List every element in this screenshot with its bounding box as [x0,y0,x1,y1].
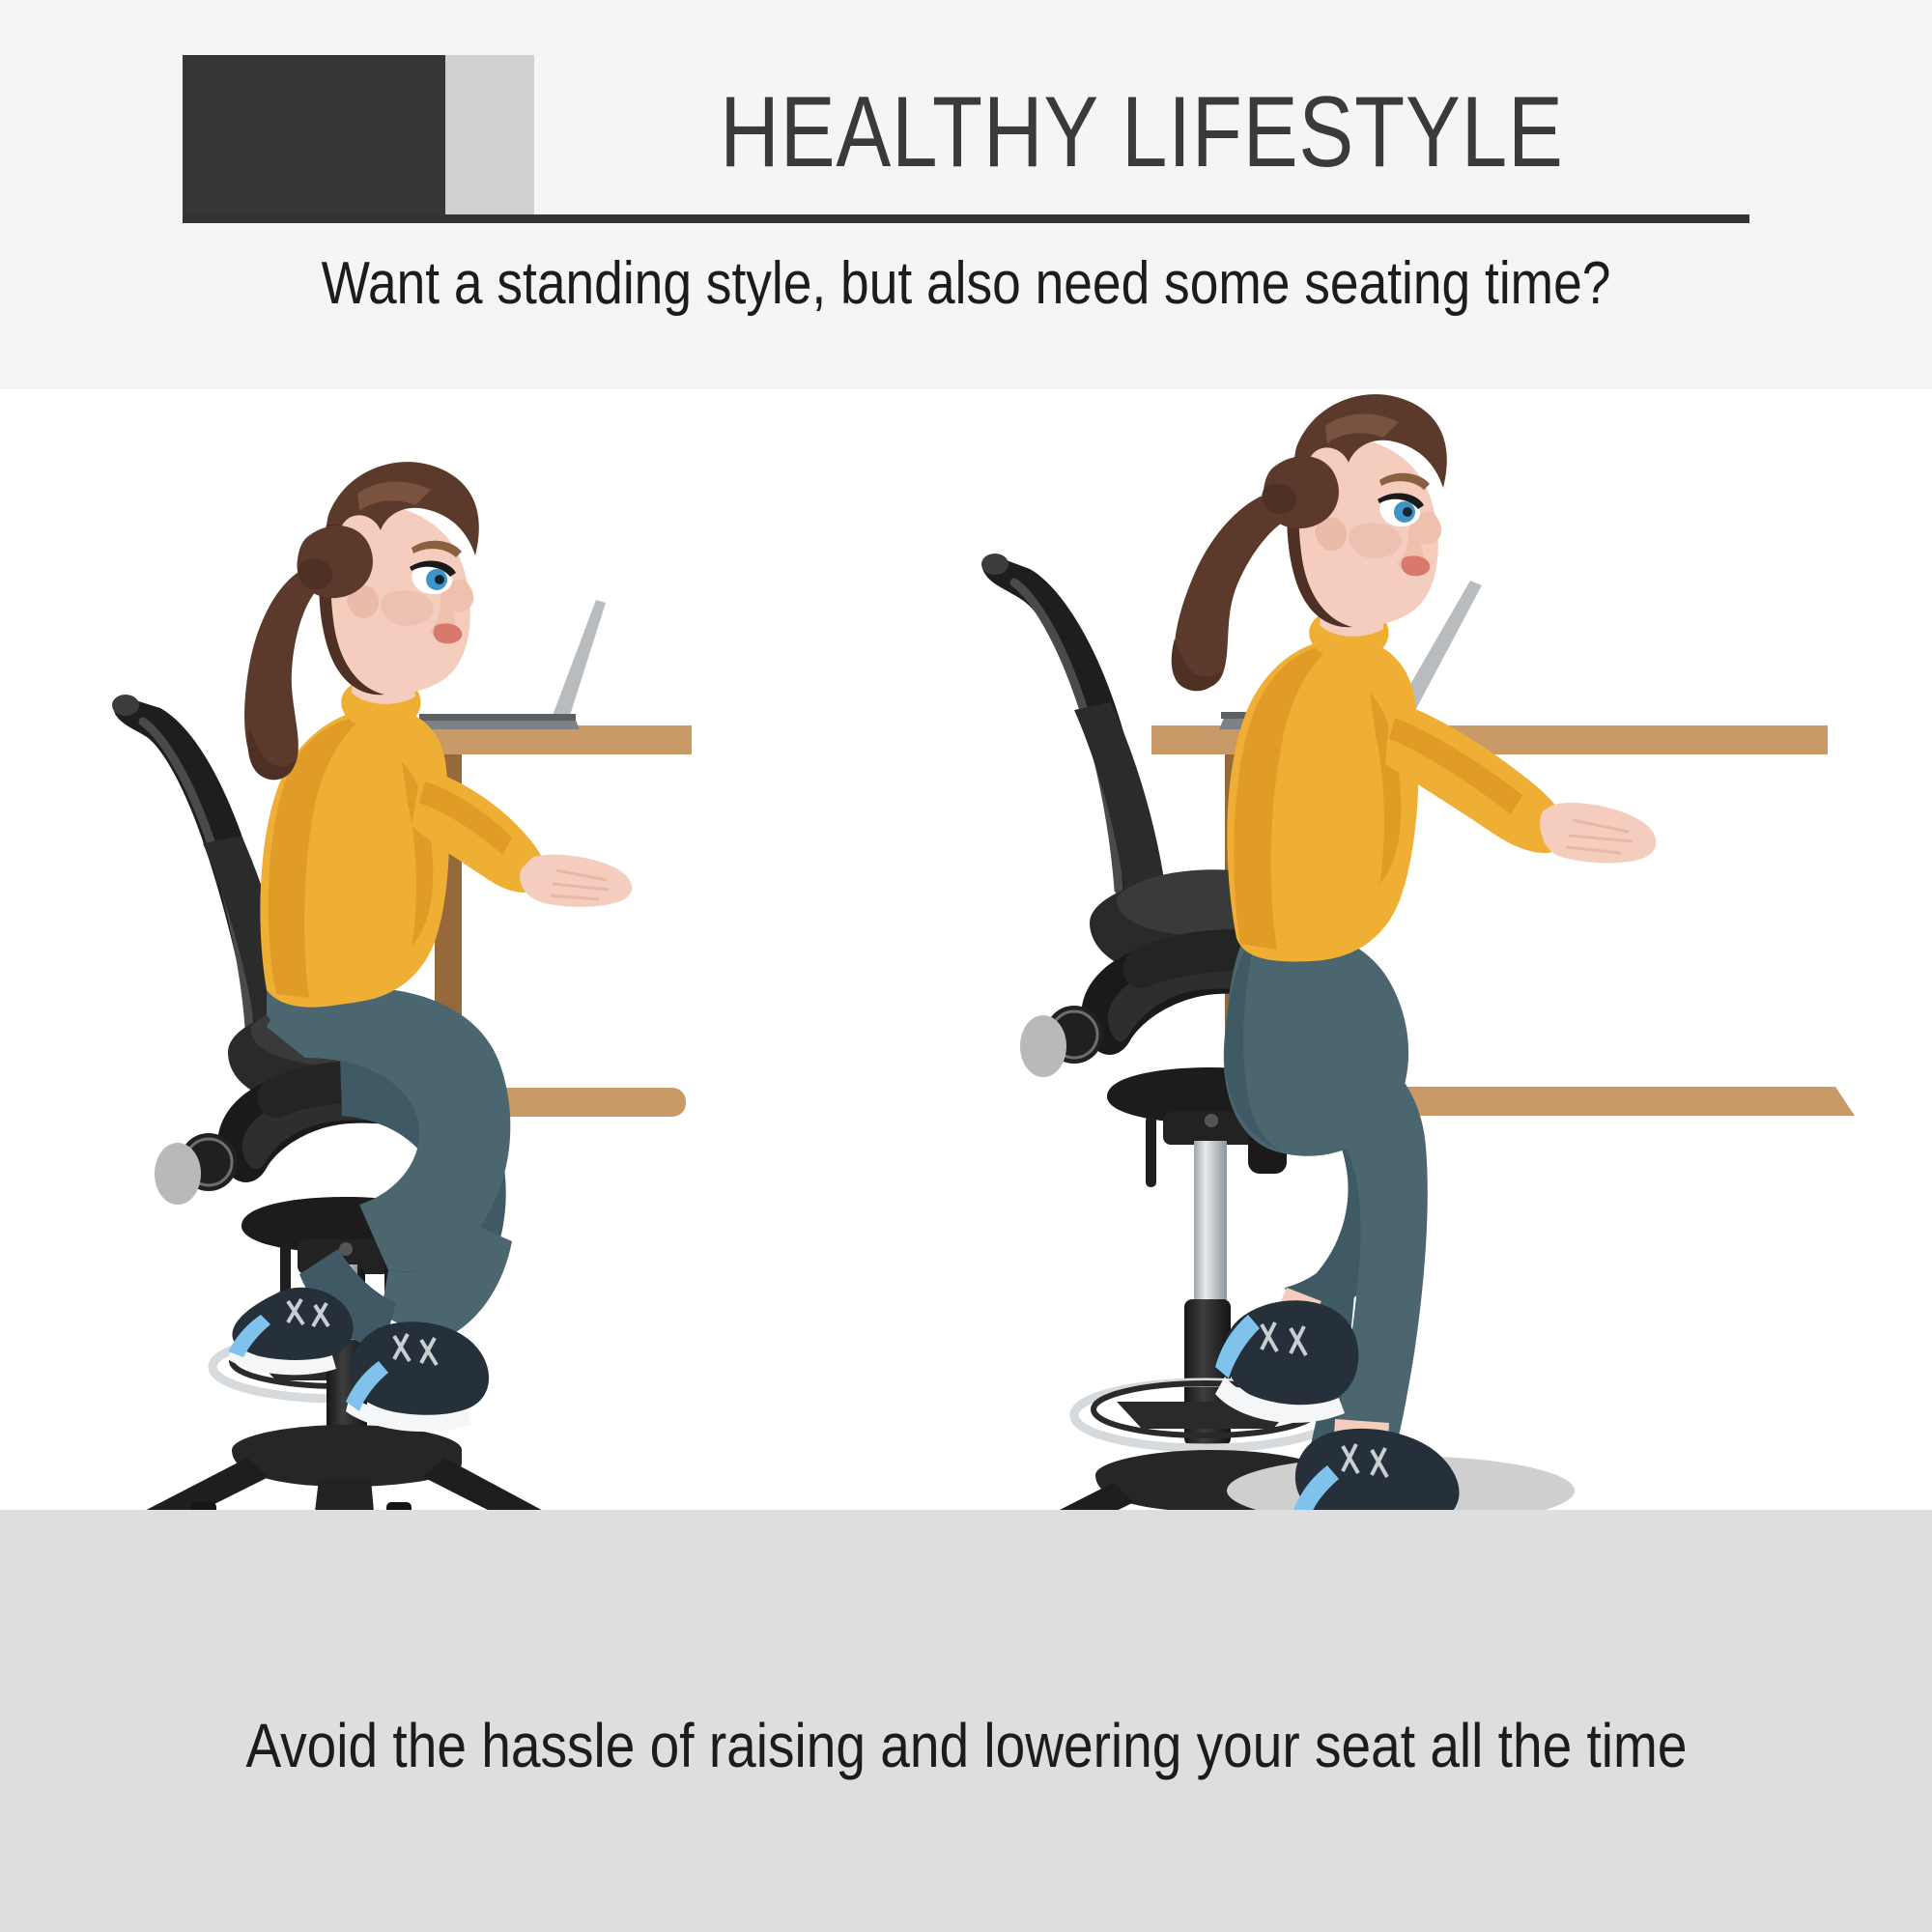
chair-chrome-column [1194,1141,1227,1321]
hand [1540,803,1656,863]
scene-seated-low-position [97,389,831,1510]
person-standing [1172,394,1657,1510]
page-subtitle: Want a standing style, but also need som… [0,249,1932,318]
shoe-near [346,1321,489,1432]
infographic-page: HEALTHY LIFESTYLE Want a standing style,… [0,0,1932,1932]
laptop-screen [551,600,606,722]
laptop-keyboard-edge [419,714,576,721]
eye-pupil [435,575,444,584]
shoe-near [1293,1429,1460,1510]
hand [520,855,632,907]
chair-backrest-top-cap [112,695,139,716]
scene-standing-high-position [966,389,1855,1510]
shoe-far [1215,1300,1358,1423]
chair-pivot-shadow [1020,1015,1066,1077]
page-title: HEALTHY LIFESTYLE [643,60,1640,205]
eye-pupil [1403,507,1412,517]
header-divider-rule [183,214,1749,223]
footer-caption: Avoid the hassle of raising and lowering… [0,1710,1932,1781]
footer-caption-text: Avoid the hassle of raising and lowering… [245,1710,1687,1781]
chair-mech-bolt [1205,1114,1218,1127]
header-band: HEALTHY LIFESTYLE Want a standing style,… [0,0,1932,389]
chair-height-lever [1146,1116,1156,1187]
illustration-area [0,389,1932,1510]
brand-block-dark [183,55,445,214]
page-subtitle-text: Want a standing style, but also need som… [322,249,1611,318]
chair-base-star [118,1425,566,1510]
ponytail [1175,494,1289,689]
chair-pivot-shadow [155,1143,201,1205]
brand-block-light [445,55,534,214]
chair-backrest-top-cap [981,554,1009,575]
